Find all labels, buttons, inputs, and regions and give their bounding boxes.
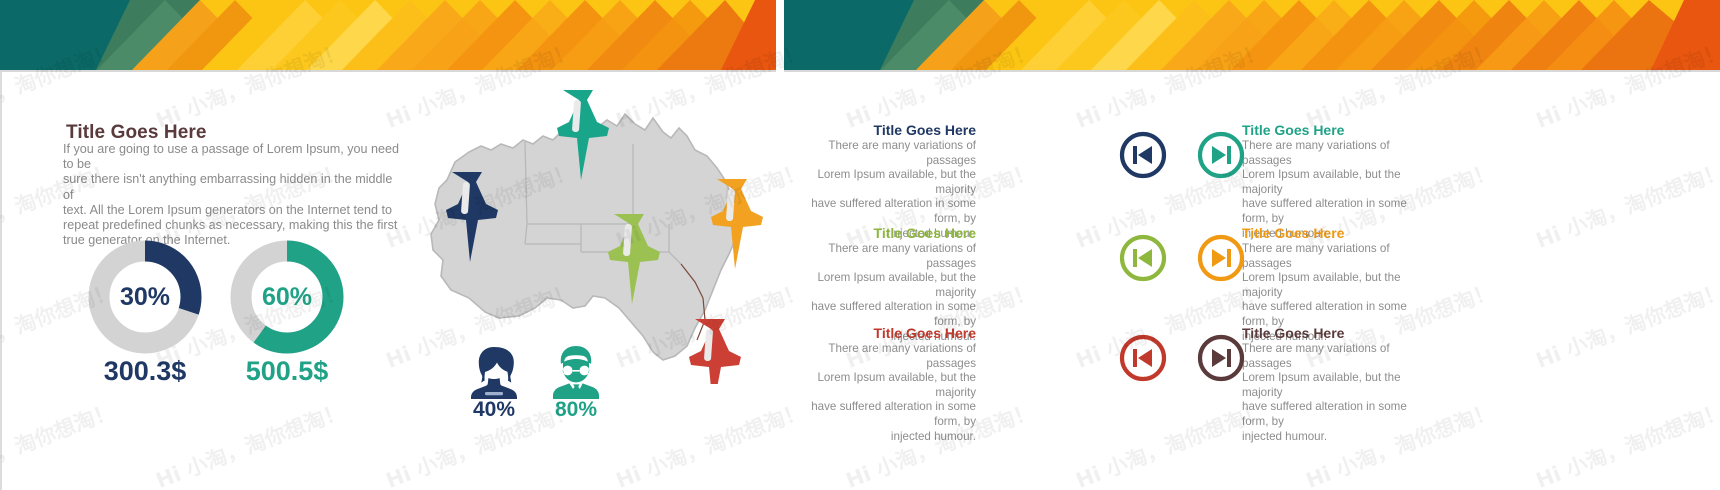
skip-forward-icon[interactable] bbox=[1196, 333, 1246, 383]
slide-left: Title Goes Here If you are going to use … bbox=[0, 0, 776, 490]
slide-deck-canvas: Title Goes Here If you are going to use … bbox=[0, 0, 1720, 490]
money-value-teal: 500.5$ bbox=[219, 356, 355, 387]
left-title: Title Goes Here bbox=[66, 122, 207, 144]
right-item-6-title: Title Goes Here bbox=[1242, 325, 1434, 342]
skip-back-icon[interactable] bbox=[1118, 130, 1168, 180]
skip-forward-icon-glyph bbox=[1196, 233, 1246, 283]
donut-chart-teal[interactable]: 60% bbox=[229, 239, 345, 355]
donut-navy-label: 30% bbox=[87, 239, 203, 355]
right-item-5[interactable]: Title Goes HereThere are many variations… bbox=[784, 325, 976, 444]
australia-map[interactable] bbox=[395, 84, 770, 384]
right-item-5-title: Title Goes Here bbox=[784, 325, 976, 342]
right-item-5-text: There are many variations of passagesLor… bbox=[784, 342, 976, 444]
skip-forward-icon[interactable] bbox=[1196, 130, 1246, 180]
right-item-1[interactable]: Title Goes HereThere are many variations… bbox=[784, 122, 976, 241]
money-value-navy: 300.3$ bbox=[77, 356, 213, 387]
banner-bottom-rule bbox=[0, 70, 776, 72]
right-item-2[interactable]: Title Goes HereThere are many variations… bbox=[1242, 122, 1434, 241]
left-body-line-5: text. All the Lorem Ipsum generators on … bbox=[63, 203, 408, 218]
right-item-3-title: Title Goes Here bbox=[784, 225, 976, 242]
skip-back-icon-glyph bbox=[1118, 130, 1168, 180]
skip-back-icon[interactable] bbox=[1118, 233, 1168, 283]
skip-back-icon-glyph bbox=[1118, 233, 1168, 283]
percent-label-navy: 40% bbox=[449, 398, 539, 422]
skip-forward-icon-glyph bbox=[1196, 130, 1246, 180]
pin-southeast bbox=[689, 319, 741, 384]
right-item-6[interactable]: Title Goes HereThere are many variations… bbox=[1242, 325, 1434, 444]
banner-left bbox=[0, 0, 776, 72]
skip-forward-icon-glyph bbox=[1196, 333, 1246, 383]
right-item-4-title: Title Goes Here bbox=[1242, 225, 1434, 242]
slide-gutter bbox=[776, 0, 784, 490]
left-body-line-3: sure there isn't anything embarrassing h… bbox=[63, 172, 408, 187]
donut-teal-label: 60% bbox=[229, 239, 345, 355]
right-item-1-title: Title Goes Here bbox=[784, 122, 976, 139]
left-body-text: If you are going to use a passage of Lor… bbox=[63, 142, 408, 248]
banner-right-bottom-rule bbox=[784, 70, 1720, 72]
australia-map-graphic bbox=[395, 84, 770, 384]
left-body-line-2: to be bbox=[63, 157, 408, 172]
slide-right: Title Goes HereThere are many variations… bbox=[784, 0, 1720, 490]
banner-left-graphic bbox=[0, 0, 776, 72]
percent-label-teal: 80% bbox=[531, 398, 621, 422]
banner-right-graphic bbox=[784, 0, 1720, 72]
skip-back-icon[interactable] bbox=[1118, 333, 1168, 383]
slide-left-edge-rule bbox=[0, 72, 2, 490]
left-body-line-1: If you are going to use a passage of Lor… bbox=[63, 142, 408, 157]
banner-right bbox=[784, 0, 1720, 72]
right-item-6-text: There are many variations of passagesLor… bbox=[1242, 342, 1434, 444]
skip-forward-icon[interactable] bbox=[1196, 233, 1246, 283]
left-body-line-4: of bbox=[63, 188, 408, 203]
skip-back-icon-glyph bbox=[1118, 333, 1168, 383]
left-body-line-6: repeat predefined chunks as necessary, m… bbox=[63, 218, 408, 233]
donut-chart-navy[interactable]: 30% bbox=[87, 239, 203, 355]
right-item-2-title: Title Goes Here bbox=[1242, 122, 1434, 139]
